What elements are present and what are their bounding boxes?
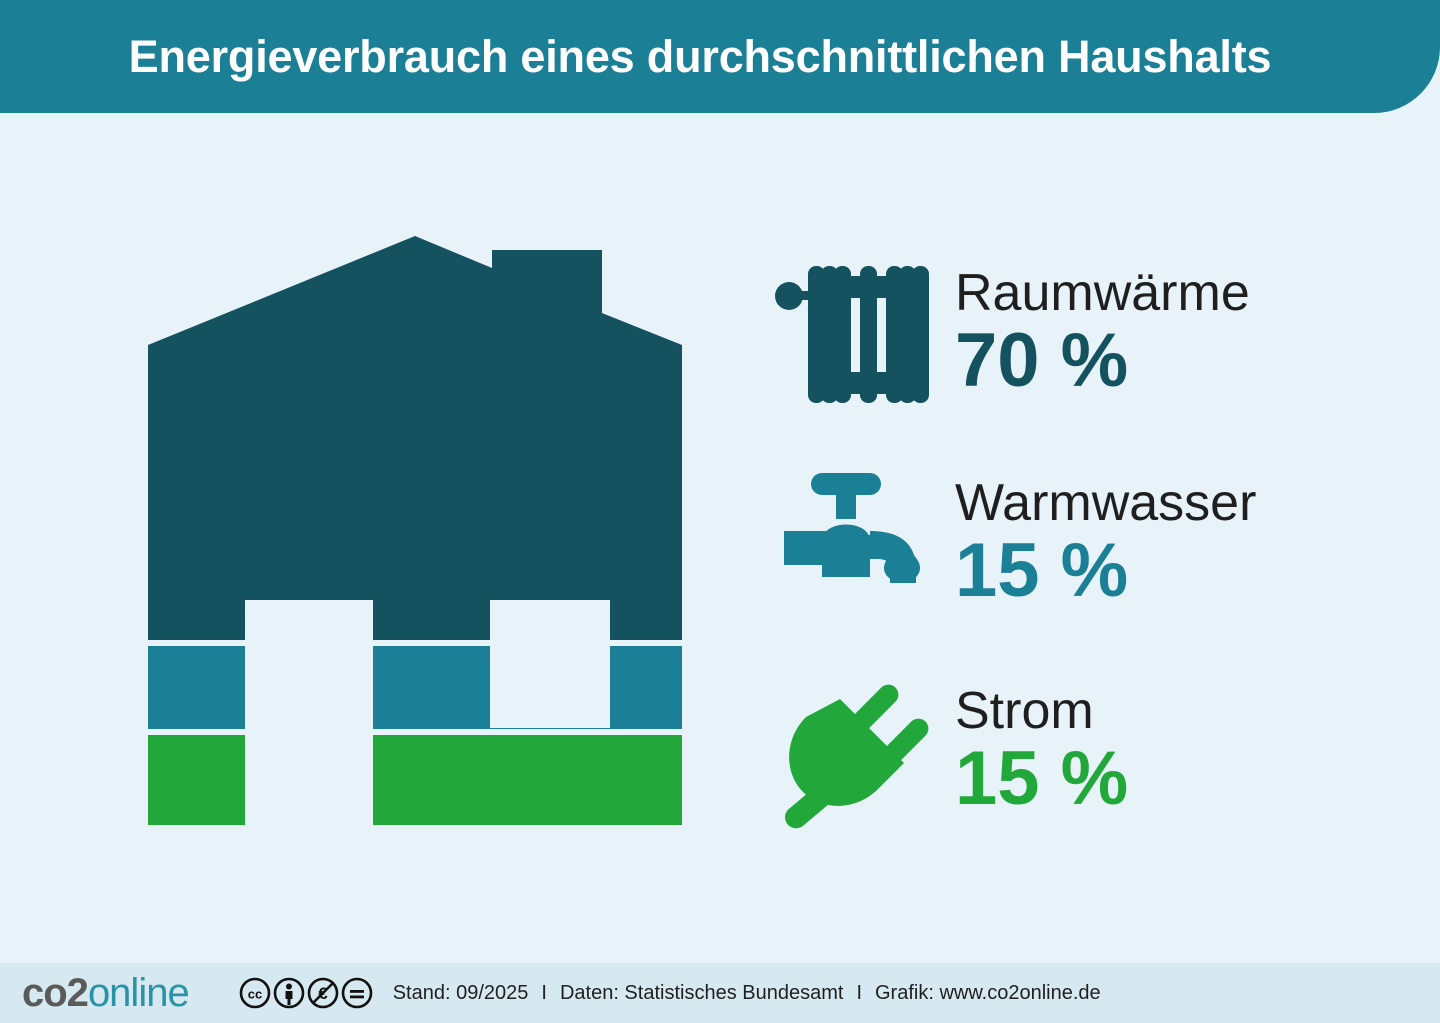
- logo-text-co2: co2: [22, 971, 88, 1015]
- legend-label-warmwasser: Warmwasser: [955, 477, 1390, 529]
- page-title: Energieverbrauch eines durchschnittliche…: [0, 0, 1400, 113]
- co2online-logo[interactable]: co2online: [22, 973, 189, 1013]
- legend-text-strom: Strom 15 %: [945, 685, 1390, 820]
- legend-value-warmwasser: 15 %: [955, 531, 1390, 612]
- faucet-icon: [770, 465, 945, 625]
- house-pictogram: [140, 230, 690, 835]
- house-window-cutout: [490, 600, 610, 728]
- radiator-icon: [770, 255, 945, 415]
- creative-commons-badges: cc €: [239, 977, 373, 1009]
- house-door-cutout: [245, 600, 373, 835]
- footer-credit[interactable]: Grafik: www.co2online.de: [875, 982, 1101, 1005]
- legend: Raumwärme 70 %: [770, 240, 1390, 840]
- legend-value-raumwaerme: 70 %: [955, 321, 1390, 402]
- legend-item-strom: Strom 15 %: [770, 670, 1390, 835]
- infographic-root: Energieverbrauch eines durchschnittliche…: [0, 0, 1440, 1023]
- cc-nd-icon: [341, 977, 373, 1009]
- cc-icon: cc: [239, 977, 271, 1009]
- footer-stand: Stand: 09/2025: [393, 982, 529, 1005]
- footer-source: Daten: Statistisches Bundesamt: [560, 982, 843, 1005]
- house-pictogram-svg: [140, 230, 690, 835]
- footer-bar: co2online cc €: [0, 963, 1440, 1023]
- footer-separator-2: I: [856, 982, 862, 1005]
- cc-nc-icon: €: [307, 977, 339, 1009]
- legend-item-warmwasser: Warmwasser 15 %: [770, 462, 1390, 627]
- legend-label-strom: Strom: [955, 685, 1390, 737]
- house-band-strom: [140, 735, 690, 825]
- power-plug-icon: [770, 673, 945, 833]
- footer-meta: Stand: 09/2025 I Daten: Statistisches Bu…: [393, 982, 1101, 1005]
- footer-separator-1: I: [541, 982, 547, 1005]
- house-band-raumwaerme: [140, 230, 690, 640]
- legend-text-warmwasser: Warmwasser 15 %: [945, 477, 1390, 612]
- legend-label-raumwaerme: Raumwärme: [955, 267, 1390, 319]
- header-bar: Energieverbrauch eines durchschnittliche…: [0, 0, 1440, 113]
- cc-by-icon: [273, 977, 305, 1009]
- svg-text:cc: cc: [247, 987, 261, 1002]
- legend-value-strom: 15 %: [955, 739, 1390, 820]
- legend-item-raumwaerme: Raumwärme 70 %: [770, 252, 1390, 417]
- logo-text-online: online: [88, 971, 189, 1015]
- legend-text-raumwaerme: Raumwärme 70 %: [945, 267, 1390, 402]
